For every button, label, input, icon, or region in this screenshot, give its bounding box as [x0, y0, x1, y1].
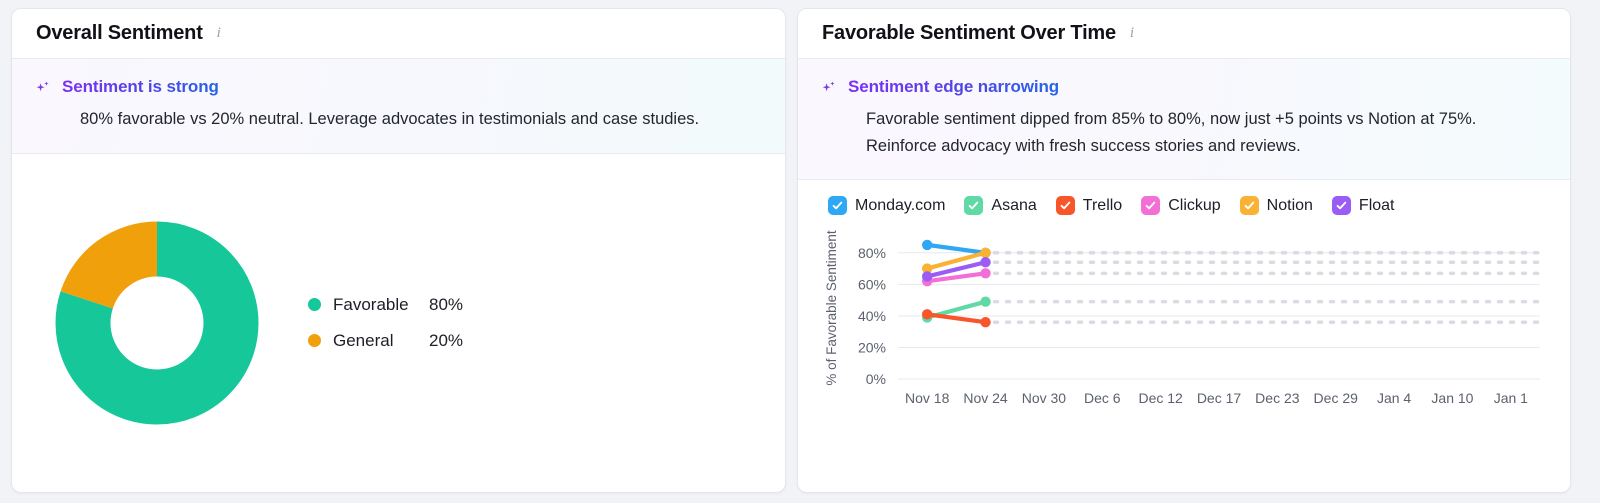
series-toggle-monday-com[interactable]: Monday.com	[828, 196, 945, 215]
line-chart-body: Monday.comAsanaTrelloClickupNotionFloat …	[798, 180, 1570, 492]
card-header-left: Overall Sentiment i	[12, 9, 785, 59]
legend-dot-favorable	[308, 298, 321, 311]
overall-sentiment-card: Overall Sentiment i Sentiment is strong …	[11, 8, 786, 493]
y-axis-tick-label: 0%	[866, 371, 886, 387]
insight-body-right: Sentiment edge narrowing Favorable senti…	[848, 77, 1546, 159]
y-axis-tick-label: 20%	[858, 340, 886, 356]
sparkle-icon	[820, 80, 838, 102]
series-label: Clickup	[1168, 197, 1220, 215]
series-toggle-float[interactable]: Float	[1332, 196, 1395, 215]
page-title: Overall Sentiment	[36, 22, 203, 45]
x-axis-tick-label: Dec 12	[1138, 390, 1183, 406]
series-monday-com-point-0[interactable]	[922, 240, 932, 250]
insight-heading: Sentiment edge narrowing	[848, 77, 1059, 97]
x-axis-tick-label: Nov 24	[963, 390, 1008, 406]
insight-text: 80% favorable vs 20% neutral. Leverage a…	[62, 106, 752, 133]
x-axis-tick-label: Nov 30	[1022, 390, 1067, 406]
insight-body-left: Sentiment is strong 80% favorable vs 20%…	[62, 77, 761, 133]
x-axis-tick-label: Jan 10	[1431, 390, 1473, 406]
legend-value-general: 20%	[429, 331, 463, 351]
series-toggle-clickup[interactable]: Clickup	[1141, 196, 1220, 215]
series-notion-point-1[interactable]	[980, 248, 990, 258]
page-title: Favorable Sentiment Over Time	[822, 22, 1116, 45]
series-label: Asana	[991, 197, 1036, 215]
donut-chart-svg	[54, 220, 260, 426]
series-toggle-notion[interactable]: Notion	[1240, 196, 1313, 215]
series-float-point-1[interactable]	[980, 257, 990, 267]
series-toggle-trello[interactable]: Trello	[1056, 196, 1122, 215]
series-trello-point-0[interactable]	[922, 310, 932, 320]
x-axis-tick-label: Jan 1	[1494, 390, 1528, 406]
dashboard-root: Overall Sentiment i Sentiment is strong …	[0, 0, 1600, 503]
y-axis-tick-label: 60%	[858, 277, 886, 293]
y-axis-tick-label: 80%	[858, 245, 886, 261]
series-label: Trello	[1083, 197, 1122, 215]
checkbox-icon[interactable]	[1056, 196, 1075, 215]
insight-text: Favorable sentiment dipped from 85% to 8…	[848, 106, 1546, 159]
y-axis-tick-label: 40%	[858, 308, 886, 324]
sparkle-icon	[34, 80, 52, 102]
series-label: Monday.com	[855, 197, 945, 215]
x-axis-tick-label: Dec 17	[1197, 390, 1242, 406]
series-trello-point-1[interactable]	[980, 317, 990, 327]
favorable-sentiment-over-time-card: Favorable Sentiment Over Time i Sentimen…	[797, 8, 1571, 493]
checkbox-icon[interactable]	[1141, 196, 1160, 215]
insight-banner-left: Sentiment is strong 80% favorable vs 20%…	[12, 59, 785, 154]
series-float-point-0[interactable]	[922, 272, 932, 282]
x-axis-tick-label: Jan 4	[1377, 390, 1411, 406]
x-axis-tick-label: Dec 23	[1255, 390, 1300, 406]
series-toggle-asana[interactable]: Asana	[964, 196, 1036, 215]
donut-legend: Favorable 80% General 20%	[308, 295, 463, 351]
checkbox-icon[interactable]	[828, 196, 847, 215]
series-label: Float	[1359, 197, 1395, 215]
series-clickup-point-1[interactable]	[980, 269, 990, 279]
legend-label-general: General	[333, 331, 429, 351]
series-monday-com-line	[927, 245, 985, 253]
series-asana-point-1[interactable]	[980, 297, 990, 307]
x-axis-tick-label: Nov 18	[905, 390, 950, 406]
insight-banner-right: Sentiment edge narrowing Favorable senti…	[798, 59, 1570, 180]
x-axis-tick-label: Dec 29	[1314, 390, 1359, 406]
info-icon[interactable]: i	[212, 26, 226, 42]
y-axis-title: % of Favorable Sentiment	[824, 231, 839, 387]
card-header-right: Favorable Sentiment Over Time i	[798, 9, 1570, 59]
series-legend: Monday.comAsanaTrelloClickupNotionFloat	[820, 196, 1548, 215]
list-item[interactable]: Favorable 80%	[308, 295, 463, 315]
insight-heading: Sentiment is strong	[62, 77, 219, 97]
donut-chart	[54, 220, 260, 426]
series-label: Notion	[1267, 197, 1313, 215]
line-chart: % of Favorable Sentiment0%20%40%60%80%No…	[820, 225, 1548, 482]
legend-dot-general	[308, 334, 321, 347]
legend-label-favorable: Favorable	[333, 295, 429, 315]
line-chart-svg[interactable]: % of Favorable Sentiment0%20%40%60%80%No…	[820, 225, 1548, 415]
list-item[interactable]: General 20%	[308, 331, 463, 351]
info-icon[interactable]: i	[1125, 26, 1139, 42]
legend-value-favorable: 80%	[429, 295, 463, 315]
donut-chart-body: Favorable 80% General 20%	[12, 154, 785, 492]
x-axis-tick-label: Dec 6	[1084, 390, 1121, 406]
checkbox-icon[interactable]	[964, 196, 983, 215]
checkbox-icon[interactable]	[1240, 196, 1259, 215]
checkbox-icon[interactable]	[1332, 196, 1351, 215]
